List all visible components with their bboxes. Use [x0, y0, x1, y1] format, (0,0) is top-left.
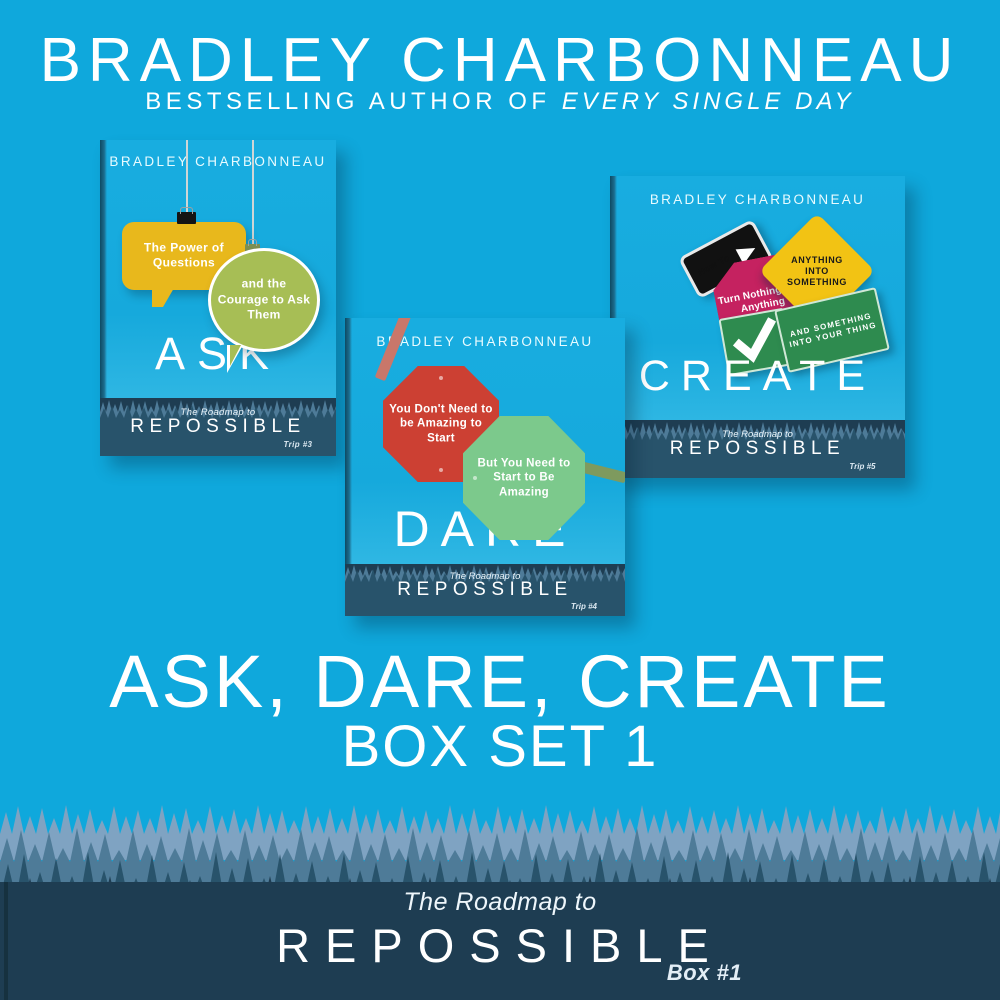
tagline-prefix: BESTSELLING AUTHOR OF	[145, 88, 561, 115]
sign-and-something-text: AND SOMETHING INTO YOUR THING	[783, 310, 881, 350]
cover-byline-ask: BRADLEY CHARBONNEAU	[100, 154, 336, 169]
bubble-green-text: and the Courage to Ask Them	[217, 277, 311, 324]
rivet-dot	[439, 376, 443, 380]
rivet-dot	[439, 468, 443, 472]
cover-series-create: REPOSSIBLE	[610, 438, 905, 460]
hanging-string-left	[186, 140, 188, 216]
cover-trip-create: Trip #5	[849, 462, 875, 471]
binder-clip-yellow	[177, 212, 196, 224]
cover-footer-band: The Roadmap to REPOSSIBLE Trip #5	[610, 420, 905, 478]
cover-series-ask: REPOSSIBLE	[100, 416, 336, 438]
cover-series-dare: REPOSSIBLE	[345, 579, 625, 601]
author-name: BRADLEY CHARBONNEAU	[0, 30, 1000, 92]
cover-title-create: CREATE	[610, 352, 905, 401]
footer-box-number: Box #1	[667, 960, 742, 986]
cover-footer-band: The Roadmap to REPOSSIBLE Trip #4	[345, 564, 625, 616]
hanging-string-right	[252, 140, 254, 248]
box-set-subtitle: BOX SET 1	[0, 718, 1000, 776]
cover-footer-band: The Roadmap to REPOSSIBLE Trip #3	[100, 398, 336, 456]
speech-bubble-green: and the Courage to Ask Them	[208, 248, 320, 352]
author-tagline: BESTSELLING AUTHOR OF EVERY SINGLE DAY	[0, 88, 1000, 116]
box-set-cover: BRADLEY CHARBONNEAU BESTSELLING AUTHOR O…	[0, 0, 1000, 1000]
book-cover-create[interactable]: How To Turn Nothing Into Anything ANYTHI…	[610, 176, 905, 478]
tagline-book-title: EVERY SINGLE DAY	[562, 88, 855, 115]
book-cover-dare[interactable]: You Don't Need to be Amazing to Start Bu…	[345, 318, 625, 616]
octagon-green-text: But You Need to Start to Be Amazing	[469, 456, 579, 499]
box-set-title: ASK, DARE, CREATE	[0, 645, 1000, 719]
cover-byline-create: BRADLEY CHARBONNEAU	[610, 192, 905, 207]
bubble-tail	[152, 288, 174, 307]
cover-trip-dare: Trip #4	[571, 602, 597, 611]
book-cover-ask[interactable]: The Power of Questions and the Courage t…	[100, 140, 336, 456]
sign-anything-text: ANYTHING INTO SOMETHING	[778, 255, 856, 287]
cover-trip-ask: Trip #3	[284, 440, 313, 449]
footer-roadmap-label: The Roadmap to	[0, 888, 1000, 917]
bubble-tail-fill	[230, 345, 241, 366]
footer-series-name: REPOSSIBLE	[0, 918, 1000, 973]
